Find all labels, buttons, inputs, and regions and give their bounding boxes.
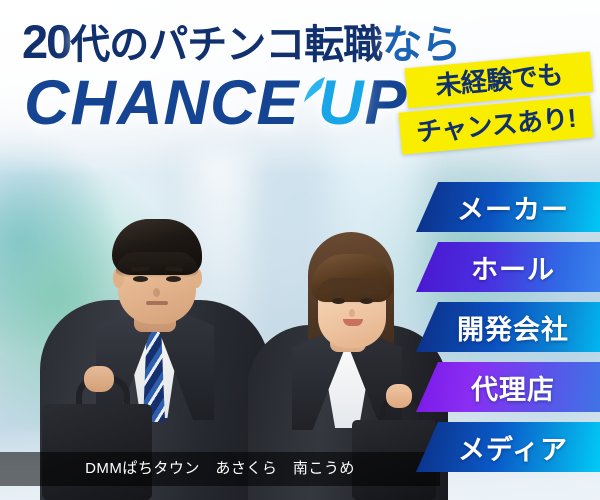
category-button-media-label: メディア bbox=[448, 428, 568, 467]
male-mouth bbox=[146, 301, 168, 305]
category-button-developer[interactable]: 開発会社 bbox=[416, 302, 600, 352]
male-nose bbox=[153, 288, 160, 297]
models-photo bbox=[0, 150, 440, 500]
category-button-agency[interactable]: 代理店 bbox=[416, 362, 600, 412]
male-eye-right bbox=[166, 276, 181, 282]
category-button-media[interactable]: メディア bbox=[416, 422, 600, 472]
chance-up-logo: CHANCE UP bbox=[24, 72, 408, 135]
female-hair-fringe bbox=[316, 278, 388, 304]
headline-main: 代のパチンコ転職 bbox=[70, 23, 382, 67]
male-hand bbox=[84, 366, 114, 392]
category-button-agency-label: 代理店 bbox=[461, 368, 555, 407]
advertisement-banner[interactable]: 20代のパチンコ転職なら CHANCE UP 未経験でも チャンスあり! DMM… bbox=[0, 0, 600, 500]
caption-text: DMMぱちタウン あさくら 南こうめ bbox=[0, 452, 440, 486]
female-eye-left bbox=[332, 298, 345, 304]
headline: 20代のパチンコ転職なら bbox=[22, 18, 460, 65]
male-hair-fringe bbox=[116, 252, 198, 278]
category-menu: メーカー ホール 開発会社 代理店 メディア bbox=[410, 0, 600, 500]
male-eye-left bbox=[133, 276, 148, 282]
category-button-developer-label: 開発会社 bbox=[447, 308, 569, 347]
female-nose bbox=[349, 309, 355, 317]
logo-text-primary: CHANCE bbox=[24, 68, 318, 138]
female-eye-right bbox=[360, 298, 373, 304]
logo-letter-u-accent: U bbox=[318, 72, 365, 135]
headline-number: 20 bbox=[22, 15, 70, 68]
category-button-maker[interactable]: メーカー bbox=[416, 182, 600, 232]
female-hand bbox=[386, 384, 412, 408]
male-model bbox=[40, 160, 270, 500]
category-button-maker-label: メーカー bbox=[447, 188, 569, 227]
category-button-hall[interactable]: ホール bbox=[416, 242, 600, 292]
category-button-hall-label: ホール bbox=[461, 248, 555, 287]
